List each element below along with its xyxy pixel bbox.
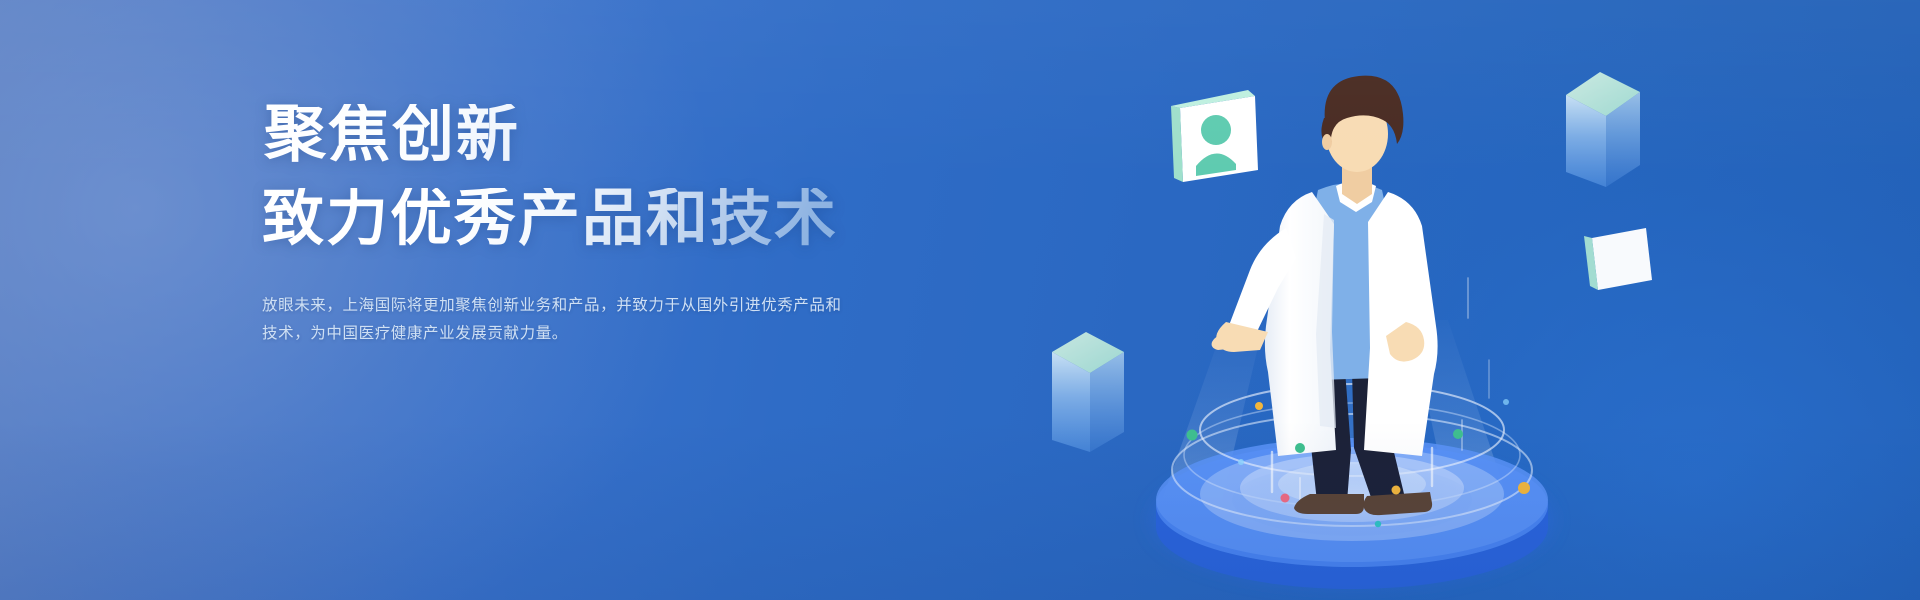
hero-paragraph: 放眼未来，上海国际将更加聚焦创新业务和产品，并致力于从国外引进优秀产品和技术，为… bbox=[262, 292, 852, 348]
headline-line-2: 致力优秀产品和技术 bbox=[262, 188, 902, 250]
hero-copy: 聚焦创新 致力优秀产品和技术 放眼未来，上海国际将更加聚焦创新业务和产品，并致力… bbox=[262, 104, 902, 364]
hero-banner: 聚焦创新 致力优秀产品和技术 放眼未来，上海国际将更加聚焦创新业务和产品，并致力… bbox=[0, 0, 1920, 600]
headline-line-1: 聚焦创新 bbox=[264, 104, 902, 166]
